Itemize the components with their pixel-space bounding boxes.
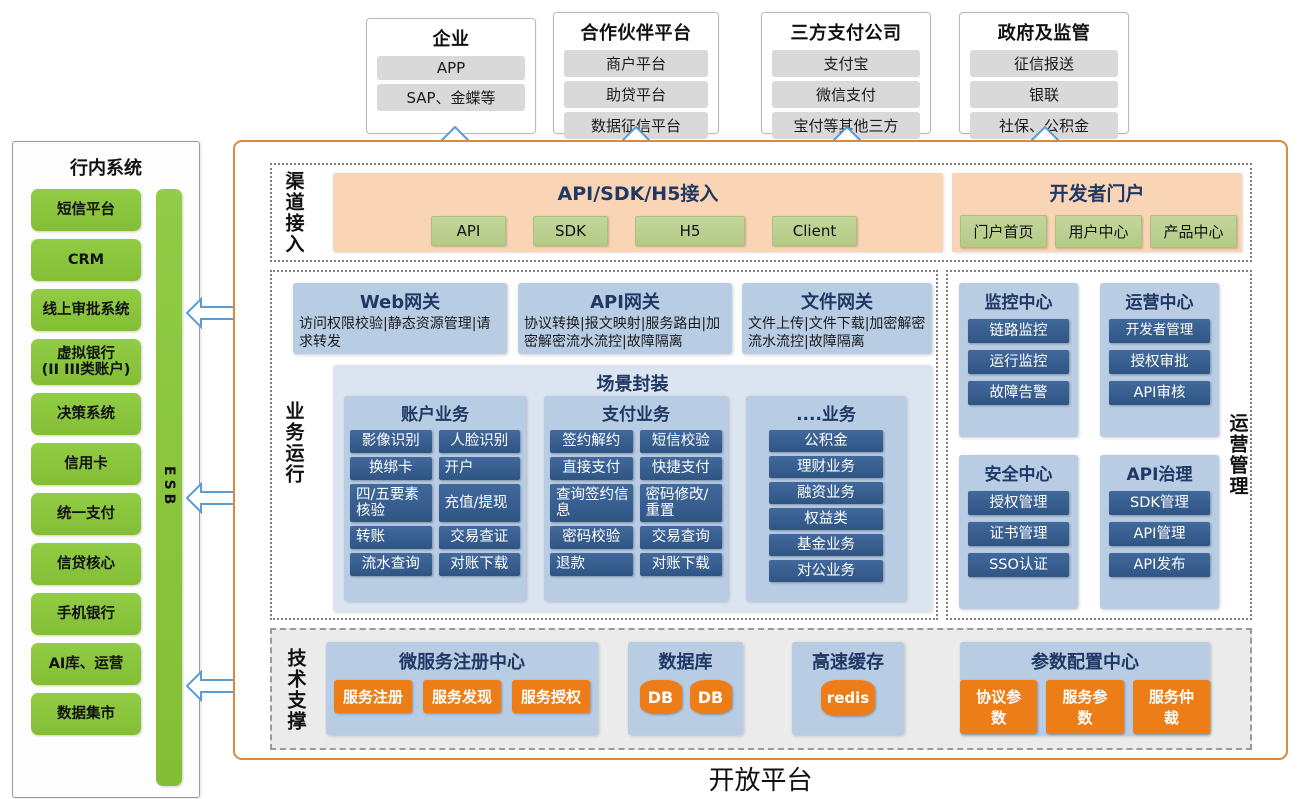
tech-chip-service-arbitration[interactable]: 服务仲裁 — [1133, 680, 1210, 734]
platform-caption: 开放平台 — [233, 760, 1288, 797]
scene-chip[interactable]: 四/五要素核验 — [350, 484, 432, 522]
scene-chip[interactable]: 签约解约 — [550, 430, 633, 453]
web-gateway-title: Web网关 — [293, 283, 507, 316]
bank-system-item[interactable]: CRM — [31, 239, 141, 281]
tech-chip-service-discovery[interactable]: 服务发现 — [423, 680, 501, 713]
channel-access-band-label: 渠道接入 — [278, 168, 308, 258]
ops-chip[interactable]: 授权管理 — [968, 491, 1069, 515]
external-item[interactable]: 银联 — [970, 81, 1118, 108]
scene-chip[interactable]: 理财业务 — [769, 456, 883, 478]
ops-chip[interactable]: API管理 — [1109, 522, 1210, 546]
tech-chip-service-param[interactable]: 服务参数 — [1046, 680, 1123, 734]
scene-chip[interactable]: 基金业务 — [769, 534, 883, 556]
external-item[interactable]: 微信支付 — [772, 81, 920, 108]
tech-card-title: 微服务注册中心 — [399, 642, 525, 680]
tech-card-cache: 高速缓存 redis — [792, 642, 904, 735]
bank-system-item[interactable]: 信用卡 — [31, 443, 141, 485]
tech-support-band-label: 技术支撑 — [280, 640, 310, 740]
channel-chip-h5[interactable]: H5 — [635, 216, 745, 246]
scene-column-account: 账户业务 影像识别 换绑卡 四/五要素核验 转账 流水查询 人脸识别 开户 充值… — [344, 396, 526, 601]
ops-card-title: 监控中心 — [968, 288, 1069, 313]
web-gateway-desc: 访问权限校验|静态资源管理|请求转发 — [293, 316, 507, 357]
scene-chip[interactable]: 对账下载 — [640, 553, 723, 576]
scene-chip[interactable]: 融资业务 — [769, 482, 883, 504]
ops-card-operations-center: 运营中心 开发者管理 授权审批 API审核 — [1100, 283, 1219, 437]
ops-chip[interactable]: 运行监控 — [968, 350, 1069, 374]
file-gateway-card[interactable]: 文件网关 文件上传|文件下载|加密解密流水流控|故障隔离 — [742, 283, 932, 354]
scene-chip[interactable]: 权益类 — [769, 508, 883, 530]
api-gateway-card[interactable]: API网关 协议转换|报文映射|服务路由|加密解密流水流控|故障隔离 — [518, 283, 732, 354]
tech-chip-protocol-param[interactable]: 协议参数 — [960, 680, 1037, 734]
external-box-title: 三方支付公司 — [791, 19, 902, 45]
ops-chip[interactable]: SDK管理 — [1109, 491, 1210, 515]
developer-portal-title: 开发者门户 — [952, 173, 1242, 206]
file-gateway-title: 文件网关 — [742, 283, 932, 316]
bank-system-item[interactable]: 信贷核心 — [31, 543, 141, 585]
scene-chip[interactable]: 查询签约信息 — [550, 484, 633, 522]
ops-chip[interactable]: 授权审批 — [1109, 350, 1210, 374]
portal-chip-home[interactable]: 门户首页 — [960, 215, 1047, 248]
bank-systems-title: 行内系统 — [13, 154, 199, 180]
external-item[interactable]: 支付宝 — [772, 50, 920, 77]
external-box-title: 政府及监管 — [998, 19, 1091, 45]
ops-chip[interactable]: 故障告警 — [968, 381, 1069, 405]
scene-column-title: 账户业务 — [350, 400, 520, 425]
tech-card-title: 高速缓存 — [812, 642, 884, 680]
operations-management-band-label: 运营管理 — [1222, 395, 1252, 515]
ops-card-monitoring-center: 监控中心 链路监控 运行监控 故障告警 — [959, 283, 1078, 437]
external-box-title: 企业 — [433, 25, 470, 51]
scene-subcolumn-right: 短信校验 快捷支付 密码修改/重置 交易查询 对账下载 — [640, 430, 723, 576]
ops-card-api-governance: API治理 SDK管理 API管理 API发布 — [1100, 455, 1219, 609]
scene-chip[interactable]: 交易查询 — [640, 526, 723, 549]
external-item[interactable]: 征信报送 — [970, 50, 1118, 77]
scene-chip[interactable]: 人脸识别 — [439, 430, 521, 453]
ops-chip[interactable]: 链路监控 — [968, 319, 1069, 343]
scene-chip[interactable]: 密码校验 — [550, 526, 633, 549]
external-box-title: 合作伙伴平台 — [581, 19, 692, 45]
tech-chip-db[interactable]: DB — [640, 680, 682, 714]
external-item[interactable]: SAP、金蝶等 — [377, 84, 525, 111]
scene-subcolumn-left: 公积金 理财业务 融资业务 权益类 基金业务 对公业务 — [752, 430, 900, 582]
external-box-government-regulator[interactable]: 政府及监管 征信报送 银联 社保、公积金 — [959, 12, 1129, 134]
scene-column-payment: 支付业务 签约解约 直接支付 查询签约信息 密码校验 退款 短信校验 快捷支付 … — [544, 396, 728, 601]
esb-label: ESB — [161, 466, 177, 508]
ops-card-title: 安全中心 — [968, 460, 1069, 485]
external-item[interactable]: 商户平台 — [564, 50, 708, 77]
scene-chip[interactable]: 充值/提现 — [439, 484, 521, 522]
scene-subcolumn-right: 人脸识别 开户 充值/提现 交易查证 对账下载 — [439, 430, 521, 576]
api-sdk-h5-access-card: API/SDK/H5接入 API SDK H5 Client — [333, 173, 943, 252]
bank-system-item[interactable]: 线上审批系统 — [31, 289, 141, 331]
scene-chip[interactable]: 换绑卡 — [350, 457, 432, 480]
channel-chip-sdk[interactable]: SDK — [533, 216, 608, 246]
bank-system-item[interactable]: 数据集市 — [31, 693, 141, 735]
tech-chip-service-auth[interactable]: 服务授权 — [512, 680, 590, 713]
ops-chip[interactable]: SSO认证 — [968, 553, 1069, 577]
tech-chip-redis[interactable]: redis — [821, 680, 875, 716]
ops-card-title: API治理 — [1109, 460, 1210, 485]
scene-chip[interactable]: 影像识别 — [350, 430, 432, 453]
ops-chip[interactable]: API审核 — [1109, 381, 1210, 405]
external-item[interactable]: 助贷平台 — [564, 81, 708, 108]
business-running-band-label: 业务运行 — [278, 383, 308, 503]
scene-column-title: 支付业务 — [550, 400, 722, 425]
scene-chip[interactable]: 公积金 — [769, 430, 883, 452]
scene-encapsulation-card: 场景封装 账户业务 影像识别 换绑卡 四/五要素核验 转账 流水查询 人脸识别 … — [333, 365, 932, 612]
scene-chip[interactable]: 交易查证 — [439, 526, 521, 549]
scene-chip[interactable]: 对账下载 — [439, 553, 521, 576]
api-gateway-desc: 协议转换|报文映射|服务路由|加密解密流水流控|故障隔离 — [518, 316, 732, 357]
ops-chip[interactable]: 证书管理 — [968, 522, 1069, 546]
scene-chip[interactable]: 开户 — [439, 457, 521, 480]
channel-chip-api[interactable]: API — [431, 216, 506, 246]
file-gateway-desc: 文件上传|文件下载|加密解密流水流控|故障隔离 — [742, 316, 932, 357]
bank-systems-list: 短信平台 CRM 线上审批系统 虚拟银行 (II III类账户) 决策系统 信用… — [31, 189, 141, 735]
external-item[interactable]: APP — [377, 56, 525, 80]
tech-chip-service-register[interactable]: 服务注册 — [334, 680, 412, 713]
bank-system-item[interactable]: 决策系统 — [31, 393, 141, 435]
bank-system-item[interactable]: 手机银行 — [31, 593, 141, 635]
external-box-partner-platform[interactable]: 合作伙伴平台 商户平台 助贷平台 数据征信平台 — [553, 12, 719, 134]
tech-chip-db[interactable]: DB — [690, 680, 732, 714]
tech-card-database: 数据库 DB DB — [628, 642, 743, 735]
api-sdk-h5-access-title: API/SDK/H5接入 — [333, 173, 943, 206]
scene-subcolumn-left: 影像识别 换绑卡 四/五要素核验 转账 流水查询 — [350, 430, 432, 576]
scene-chip[interactable]: 对公业务 — [769, 560, 883, 582]
ops-card-title: 运营中心 — [1109, 288, 1210, 313]
bank-system-item[interactable]: 短信平台 — [31, 189, 141, 231]
portal-chip-user-center[interactable]: 用户中心 — [1055, 215, 1142, 248]
esb-bus[interactable]: ESB — [156, 189, 182, 786]
scene-chip[interactable]: 直接支付 — [550, 457, 633, 480]
scene-chip[interactable]: 密码修改/重置 — [640, 484, 723, 522]
ops-card-security-center: 安全中心 授权管理 证书管理 SSO认证 — [959, 455, 1078, 609]
scene-chip[interactable]: 转账 — [350, 526, 432, 549]
ops-chip[interactable]: API发布 — [1109, 553, 1210, 577]
external-box-enterprise[interactable]: 企业 APP SAP、金蝶等 — [366, 18, 536, 134]
scene-column-other: ....业务 公积金 理财业务 融资业务 权益类 基金业务 对公业务 — [746, 396, 906, 601]
bank-systems-panel: 行内系统 短信平台 CRM 线上审批系统 虚拟银行 (II III类账户) 决策… — [12, 141, 200, 798]
scene-chip[interactable]: 退款 — [550, 553, 633, 576]
channel-chip-client[interactable]: Client — [772, 216, 857, 246]
bank-system-item[interactable]: AI库、运营 — [31, 643, 141, 685]
scene-encapsulation-title: 场景封装 — [333, 365, 932, 396]
tech-card-title: 数据库 — [659, 642, 713, 680]
tech-card-microservice-registry: 微服务注册中心 服务注册 服务发现 服务授权 — [326, 642, 598, 735]
tech-card-config-center: 参数配置中心 协议参数 服务参数 服务仲裁 — [960, 642, 1210, 735]
scene-subcolumn-left: 签约解约 直接支付 查询签约信息 密码校验 退款 — [550, 430, 633, 576]
web-gateway-card[interactable]: Web网关 访问权限校验|静态资源管理|请求转发 — [293, 283, 507, 354]
api-gateway-title: API网关 — [518, 283, 732, 316]
scene-chip[interactable]: 流水查询 — [350, 553, 432, 576]
scene-chip[interactable]: 快捷支付 — [640, 457, 723, 480]
scene-chip[interactable]: 短信校验 — [640, 430, 723, 453]
portal-chip-product-center[interactable]: 产品中心 — [1150, 215, 1237, 248]
bank-system-item[interactable]: 虚拟银行 (II III类账户) — [31, 339, 141, 385]
scene-column-title: ....业务 — [752, 400, 900, 425]
developer-portal-card: 开发者门户 门户首页 用户中心 产品中心 — [952, 173, 1242, 252]
external-box-third-party-payment[interactable]: 三方支付公司 支付宝 微信支付 宝付等其他三方 — [761, 12, 931, 134]
bank-system-item[interactable]: 统一支付 — [31, 493, 141, 535]
ops-chip[interactable]: 开发者管理 — [1109, 319, 1210, 343]
tech-card-title: 参数配置中心 — [1031, 642, 1139, 680]
